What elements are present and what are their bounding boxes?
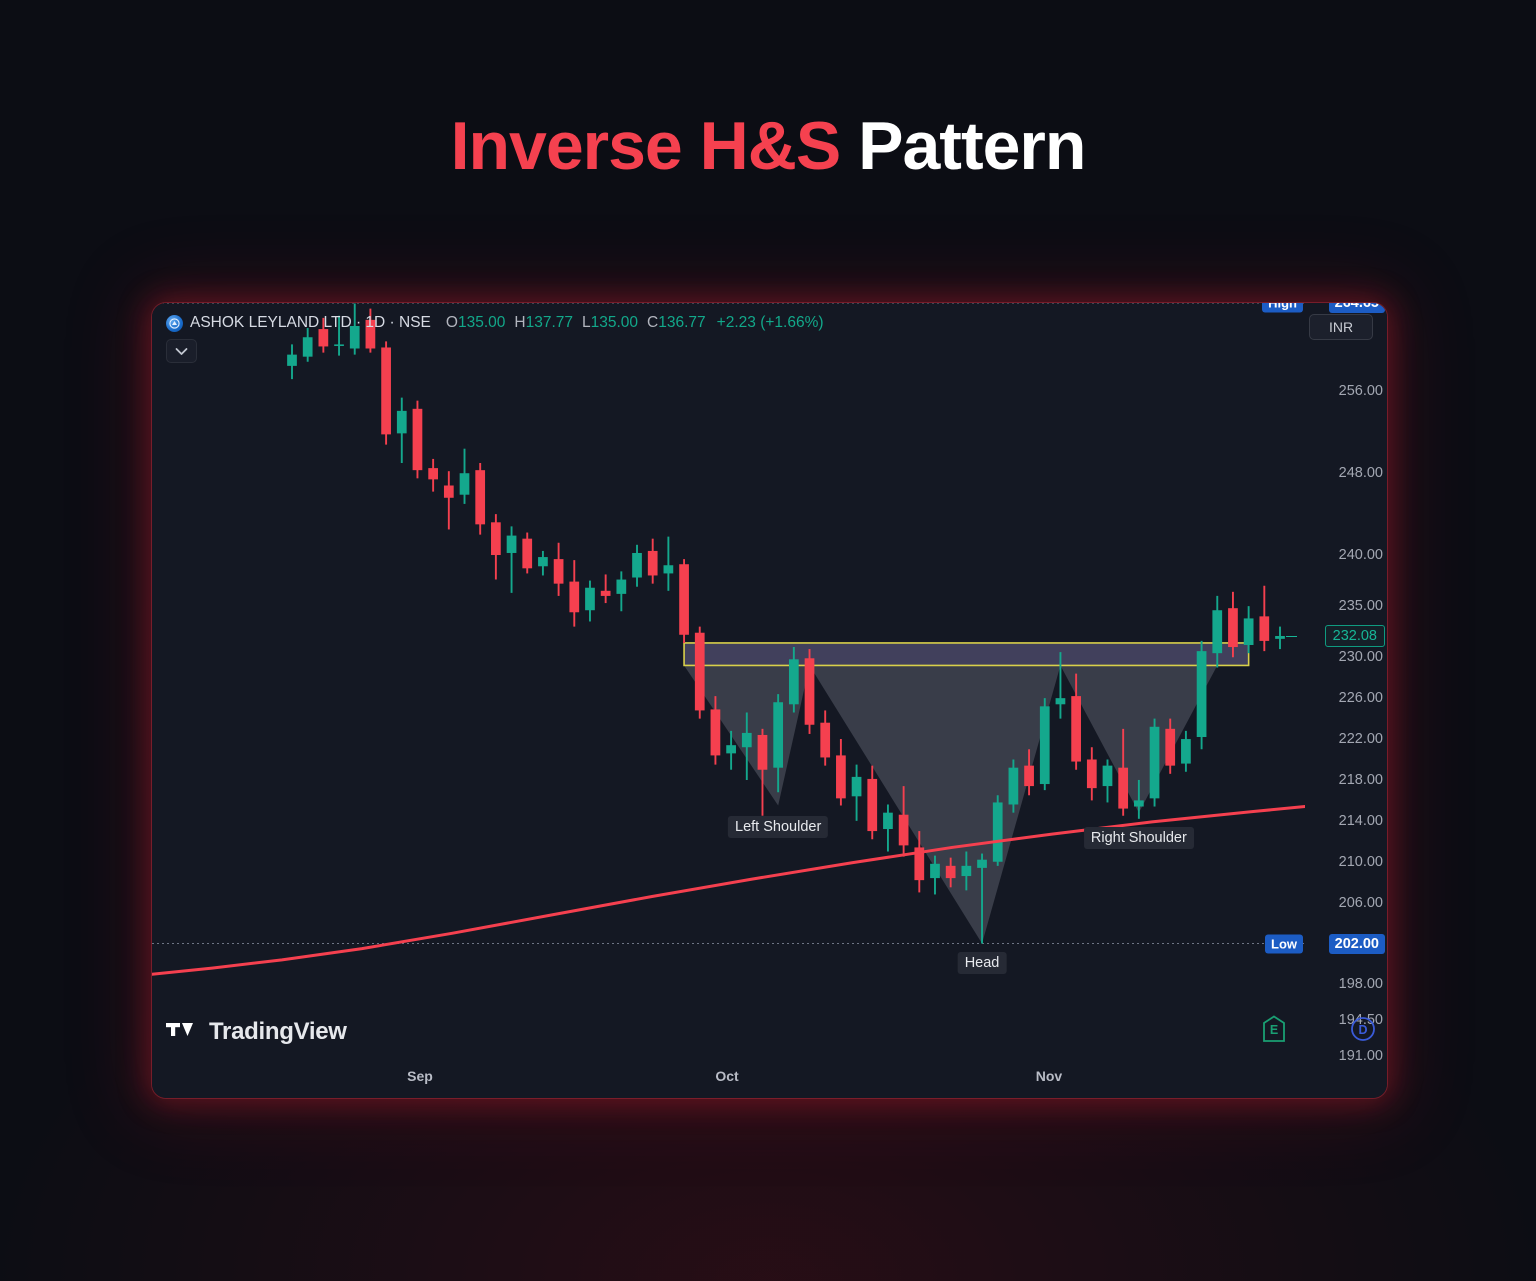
candle	[1212, 610, 1222, 653]
candle	[711, 709, 721, 755]
currency-badge[interactable]: INR	[1309, 314, 1373, 340]
neckline-zone	[684, 643, 1249, 665]
price-tick-240-00: 240.00	[1339, 547, 1383, 563]
candle	[977, 860, 987, 868]
candle	[1009, 768, 1019, 805]
price-tick-218-00: 218.00	[1339, 772, 1383, 788]
price-tick-230-00: 230.00	[1339, 649, 1383, 665]
candle	[616, 580, 626, 594]
ohlc-val-c: 136.77	[658, 314, 705, 332]
candle	[930, 864, 940, 878]
symbol-title[interactable]: ASHOK LEYLAND LTD · 1D · NSE	[190, 314, 431, 332]
tradingview-wordmark: TradingView	[209, 1018, 347, 1046]
candle	[1087, 760, 1097, 789]
candle	[899, 815, 909, 846]
ohlc-key-h: H	[514, 314, 525, 332]
price-scale[interactable]: 264.65256.00248.00240.00235.00230.00226.…	[1305, 303, 1387, 1056]
candle	[522, 539, 532, 569]
tradingview-logo-icon	[166, 1019, 200, 1045]
date-tick-oct: Oct	[715, 1068, 738, 1084]
candle	[1259, 616, 1269, 641]
candle	[507, 536, 517, 553]
candle	[773, 702, 783, 767]
candle	[491, 522, 501, 555]
ashok-leyland-logo-icon	[166, 315, 183, 332]
price-tick-210-00: 210.00	[1339, 854, 1383, 870]
chart-legend: ASHOK LEYLAND LTD · 1D · NSE O135.00 H13…	[166, 314, 824, 332]
candle	[413, 409, 423, 470]
candle	[1071, 696, 1081, 761]
ohlc-key-l: L	[582, 314, 591, 332]
candle	[1118, 768, 1128, 809]
candle	[1134, 800, 1144, 806]
chevron-down-icon[interactable]	[166, 339, 197, 363]
price-tick-248-00: 248.00	[1339, 465, 1383, 481]
candle	[632, 553, 642, 578]
tradingview-logo: TradingView	[166, 1018, 347, 1046]
page-title: Inverse H&S Pattern	[0, 112, 1536, 180]
left-shoulder-label: Left Shoulder	[728, 816, 828, 838]
earnings-badge[interactable]: E	[1262, 1015, 1286, 1048]
chart-canvas	[152, 303, 1305, 1056]
candle	[303, 337, 313, 356]
candle	[695, 633, 705, 711]
candle	[726, 745, 736, 753]
candle	[1056, 698, 1066, 704]
svg-text:D: D	[1358, 1023, 1367, 1037]
candle	[397, 411, 407, 433]
price-change: +2.23 (+1.66%)	[717, 314, 824, 332]
ohlc-val-o: 135.00	[458, 314, 505, 332]
candle	[820, 723, 830, 758]
candle	[444, 485, 454, 497]
current-price-badge: 232.08	[1325, 625, 1385, 647]
candle	[428, 468, 438, 479]
candle	[1150, 727, 1160, 799]
candle	[679, 564, 689, 635]
candle	[1181, 739, 1191, 764]
candle	[883, 813, 893, 829]
candle	[993, 802, 1003, 861]
candle	[758, 735, 768, 770]
candle	[1244, 618, 1254, 645]
price-tick-235-00: 235.00	[1339, 598, 1383, 614]
candle	[334, 344, 344, 346]
candle	[1275, 636, 1285, 639]
candle	[648, 551, 658, 576]
price-tick-198-00: 198.00	[1339, 976, 1383, 992]
price-tick-202-00: 202.00	[1329, 934, 1385, 954]
low-tag: Low	[1265, 934, 1303, 953]
ohlc-key-o: O	[446, 314, 458, 332]
date-tick-nov: Nov	[1036, 1068, 1062, 1084]
candle	[961, 866, 971, 876]
candle	[381, 347, 391, 434]
candle	[805, 658, 815, 724]
title-plain: Pattern	[858, 108, 1085, 184]
ohlc-values: O135.00 H137.77 L135.00 C136.77 +2.23 (+…	[446, 314, 824, 332]
price-tick-191-00: 191.00	[1339, 1048, 1383, 1064]
candle	[664, 565, 674, 573]
price-tick-222-00: 222.00	[1339, 731, 1383, 747]
candle	[538, 557, 548, 566]
ohlc-key-c: C	[647, 314, 658, 332]
high-tag: High	[1262, 303, 1303, 313]
candle	[1228, 608, 1238, 647]
candle	[287, 355, 297, 366]
price-tick-214-00: 214.00	[1339, 813, 1383, 829]
chart-plot-area[interactable]: Left Shoulder Head Right Shoulder	[152, 303, 1305, 1056]
candle	[601, 591, 611, 596]
candle	[1197, 651, 1207, 737]
tradingview-chart-window: ASHOK LEYLAND LTD · 1D · NSE O135.00 H13…	[152, 303, 1387, 1098]
time-scale[interactable]: SepOctNov	[152, 1056, 1305, 1098]
dividend-badge[interactable]: D	[1350, 1015, 1376, 1048]
date-tick-sep: Sep	[407, 1068, 433, 1084]
ohlc-val-l: 135.00	[591, 314, 638, 332]
candle	[789, 659, 799, 704]
svg-text:E: E	[1270, 1023, 1278, 1037]
price-tick-256-00: 256.00	[1339, 383, 1383, 399]
candle	[475, 470, 485, 524]
head-label: Head	[958, 952, 1007, 974]
current-price-tick	[1286, 636, 1297, 637]
candle	[1103, 766, 1113, 786]
neckline-rect	[684, 643, 1249, 665]
candle	[836, 755, 846, 798]
ohlc-val-h: 137.77	[526, 314, 573, 332]
title-accent: Inverse H&S	[451, 108, 841, 184]
candle	[1024, 766, 1034, 786]
price-tick-264-65: 264.65	[1329, 303, 1385, 313]
price-tick-226-00: 226.00	[1339, 690, 1383, 706]
candle	[1040, 706, 1050, 784]
candle	[946, 866, 956, 878]
price-tick-206-00: 206.00	[1339, 895, 1383, 911]
right-shoulder-label: Right Shoulder	[1084, 827, 1194, 849]
candle	[867, 779, 877, 831]
candle	[585, 588, 595, 610]
candle	[554, 559, 564, 584]
page-root: Inverse H&S Pattern ASHOK LEYLAND LTD · …	[0, 0, 1536, 1281]
candle	[1165, 729, 1175, 766]
candle	[852, 777, 862, 796]
candle	[742, 733, 752, 747]
candle	[460, 473, 470, 494]
candle	[569, 582, 579, 613]
